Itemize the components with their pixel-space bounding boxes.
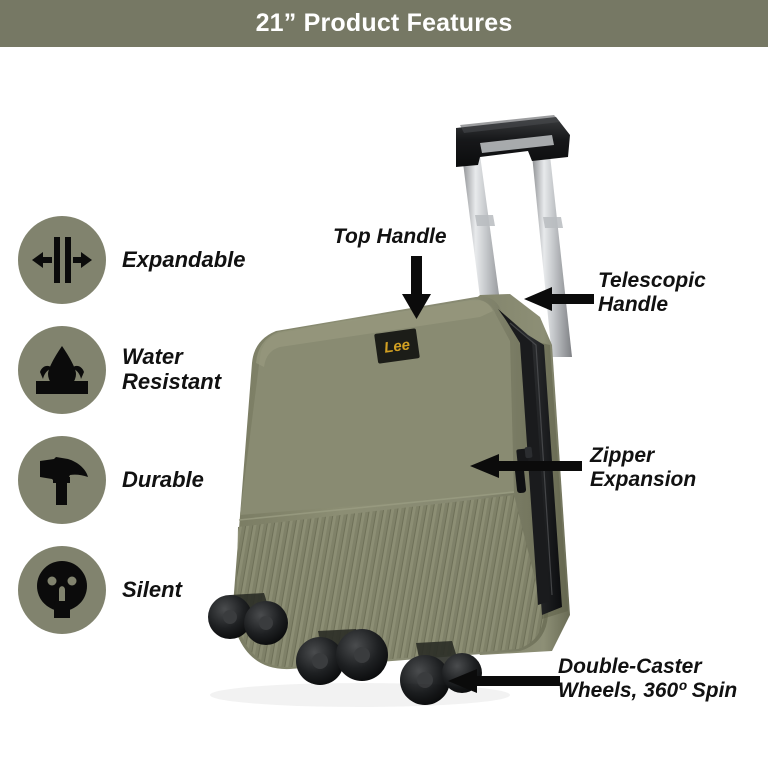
- callout-line2: Wheels, 360º Spin: [558, 679, 737, 703]
- feature-label-line2: Resistant: [122, 370, 221, 395]
- feature-label-line1: Water: [122, 344, 183, 369]
- callout-label-double-caster-wheels: Double-Caster Wheels, 360º Spin: [558, 655, 737, 703]
- callout-label-top-handle: Top Handle: [333, 225, 447, 249]
- callout-line1: Zipper: [590, 444, 654, 467]
- callout-line1: Double-Caster: [558, 655, 702, 678]
- callout-line2: Handle: [598, 293, 706, 317]
- arrow-down-top-handle: [400, 256, 434, 325]
- hammer-icon: [18, 436, 106, 524]
- feature-label: Silent: [122, 578, 182, 603]
- top-grip-part: [456, 115, 570, 167]
- feature-label: Durable: [122, 468, 204, 493]
- callout-line1: Telescopic: [598, 269, 706, 292]
- feature-label-line1: Silent: [122, 577, 182, 602]
- feature-label: Water Resistant: [122, 345, 221, 394]
- callout-label-zipper-expansion: Zipper Expansion: [590, 444, 696, 492]
- feature-item-expandable: Expandable: [18, 205, 298, 315]
- feature-item-silent: Silent: [18, 535, 298, 645]
- feature-item-durable: Durable: [18, 425, 298, 535]
- water-drop-icon: [18, 326, 106, 414]
- feature-label-line1: Durable: [122, 467, 204, 492]
- feature-label-line1: Expandable: [122, 247, 245, 272]
- page-title: 21” Product Features: [256, 9, 513, 38]
- callout-label-telescopic-handle: Telescopic Handle: [598, 269, 706, 317]
- arrow-left-double-caster-wheels: [448, 667, 560, 700]
- header-bar: 21” Product Features: [0, 0, 768, 47]
- arrow-left-zipper-expansion: [470, 452, 582, 485]
- brand-logo-patch: Lee: [374, 328, 420, 364]
- feature-item-water-resistant: Water Resistant: [18, 315, 298, 425]
- infographic-page: 21” Product Features: [0, 0, 768, 768]
- svg-text:Lee: Lee: [383, 336, 411, 356]
- shush-face-icon: [18, 546, 106, 634]
- feature-list: Expandable Water Resistant: [18, 205, 298, 645]
- feature-label: Expandable: [122, 248, 245, 273]
- callout-line1: Top Handle: [333, 225, 447, 248]
- arrow-left-telescopic-handle: [524, 285, 594, 318]
- callout-line2: Expansion: [590, 468, 696, 492]
- expand-arrows-icon: [18, 216, 106, 304]
